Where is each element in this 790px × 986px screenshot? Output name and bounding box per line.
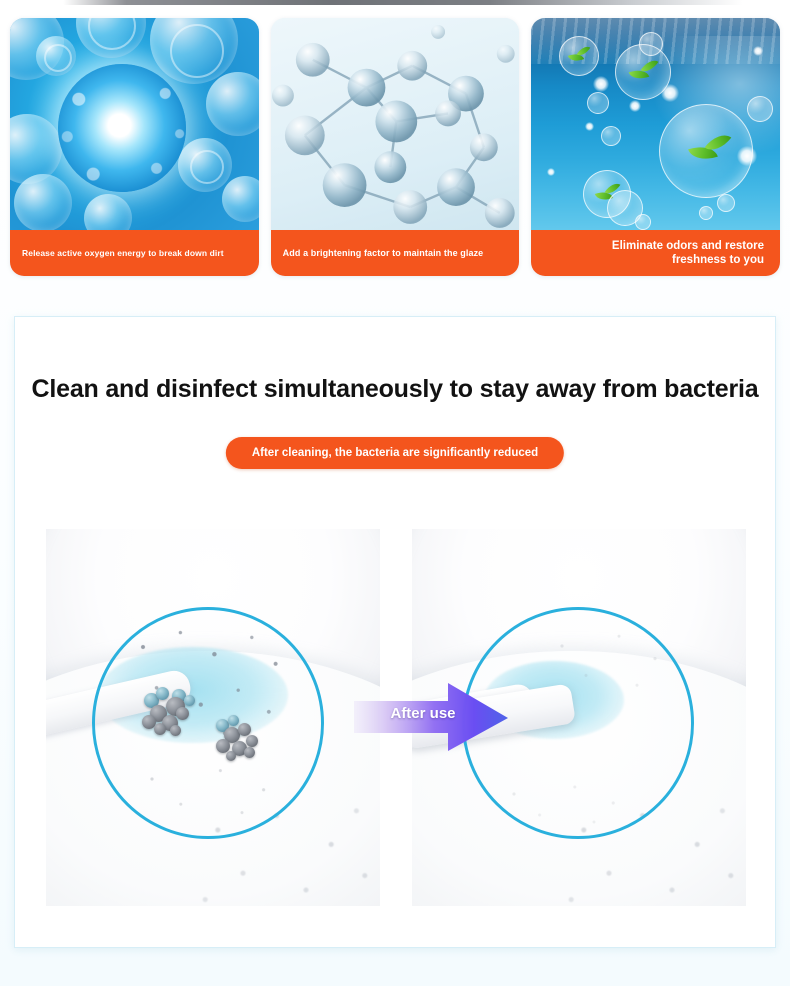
feature-card-brightening[interactable]: Add a brightening factor to maintain the… — [271, 18, 520, 276]
feature-card-odor[interactable]: Eliminate odors and restore freshness to… — [531, 18, 780, 276]
feature-card-caption: Add a brightening factor to maintain the… — [271, 230, 520, 276]
magnifier-circle — [92, 607, 324, 839]
section-heading: Clean and disinfect simultaneously to st… — [15, 375, 775, 404]
before-photo — [46, 529, 380, 906]
feature-caption-text: Add a brightening factor to maintain the… — [271, 248, 484, 259]
feature-caption-block: Eliminate odors and restore freshness to… — [531, 239, 780, 268]
after-use-arrow: After use — [352, 677, 512, 757]
page-top-sliver — [0, 0, 790, 5]
molecule-diagram-icon — [271, 18, 520, 229]
feature-caption-line-1: Eliminate odors and restore — [531, 239, 764, 253]
feature-caption-text: Release active oxygen energy to break do… — [10, 248, 224, 258]
feature-card-caption: Eliminate odors and restore freshness to… — [531, 230, 780, 276]
before-after-comparison: After use — [46, 529, 746, 906]
feature-card-active-oxygen[interactable]: Release active oxygen energy to break do… — [10, 18, 259, 276]
bacteria-reduced-badge: After cleaning, the bacteria are signifi… — [226, 437, 564, 469]
feature-caption-line-2: freshness to you — [531, 253, 764, 267]
feature-card-row: Release active oxygen energy to break do… — [10, 18, 780, 276]
underwater-bubbles-image — [531, 18, 780, 230]
active-oxygen-cells-image — [10, 18, 259, 230]
brightening-molecules-image — [271, 18, 520, 230]
right-arrow-icon — [352, 677, 512, 757]
feature-card-caption: Release active oxygen energy to break do… — [10, 230, 259, 276]
disinfect-section-panel: Clean and disinfect simultaneously to st… — [14, 316, 776, 948]
